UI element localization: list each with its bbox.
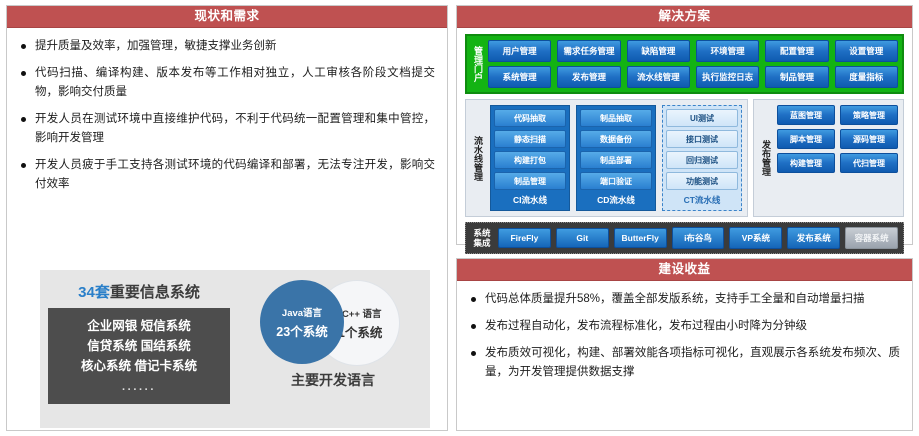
pipeline-column-cd: 制品抽取 数据备份 制品部署 端口验证 CD流水线 [576,105,656,211]
cd-item-port-verify[interactable]: 端口验证 [580,172,652,190]
systems-infographic: 34套重要信息系统 企业网银 短信系统 信贷系统 国结系统 核心系统 借记卡系统… [40,270,430,428]
systems-ellipsis: ······ [52,380,226,400]
integration-button-git[interactable]: Git [556,228,609,248]
release-management-label: 发布管理 [759,105,773,211]
integration-button-firefly[interactable]: FireFly [498,228,551,248]
portal-button-settings-management[interactable]: 设置管理 [835,40,898,62]
current-status-title: 现状和需求 [7,6,447,28]
venn-left-value: 23个系统 [276,321,327,340]
portal-button-release-management[interactable]: 发布管理 [557,66,620,88]
release-button-strategy-management[interactable]: 策略管理 [840,105,898,125]
list-item: 开发人员在测试环境中直接维护代码，不利于代码统一配置管理和集中管控，影响开发管理 [19,110,435,148]
benefit-bullet-list: 代码总体质量提升58%，覆盖全部发版系统，支持手工全量和自动增量扫描 发布过程自… [469,290,900,382]
pipeline-column-ct: UI测试 接口测试 回归测试 功能测试 CT流水线 [662,105,742,211]
ci-item-code-extract[interactable]: 代码抽取 [494,109,566,127]
portal-button-grid: 用户管理 需求任务管理 缺陷管理 环境管理 配置管理 设置管理 系统管理 发布管… [488,40,898,88]
portal-button-pipeline-management[interactable]: 流水线管理 [627,66,690,88]
release-button-grid: 蓝图管理 策略管理 脚本管理 源码管理 构建管理 代扫管理 [777,105,898,211]
release-button-blueprint-management[interactable]: 蓝图管理 [777,105,835,125]
portal-button-system-management[interactable]: 系统管理 [488,66,551,88]
integration-button-container-system[interactable]: 容器系统 [845,227,898,249]
integration-button-butterfly[interactable]: ButterFly [614,228,667,248]
ci-item-artifact-management[interactable]: 制品管理 [494,172,566,190]
portal-button-requirement-task-management[interactable]: 需求任务管理 [557,40,620,62]
systems-title-text: 重要信息系统 [110,284,200,301]
release-button-build-management[interactable]: 构建管理 [777,153,835,173]
portal-row-2: 系统管理 发布管理 流水线管理 执行监控日志 制品管理 度量指标 [488,66,898,88]
integration-button-release-system[interactable]: 发布系统 [787,227,840,249]
slide-root: 现状和需求 提升质量及效率，加强管理，敏捷支撑业务创新 代码扫描、编译构建、版本… [0,0,919,436]
systems-name-box: 企业网银 短信系统 信贷系统 国结系统 核心系统 借记卡系统 ······ [48,308,230,404]
pipeline-release-row: 流水线管理 代码抽取 静态扫描 构建打包 制品管理 CI流水线 制品抽取 数据备… [465,94,904,217]
release-management-block: 发布管理 蓝图管理 策略管理 脚本管理 源码管理 构建管理 代扫管理 [753,99,904,217]
venn-left-label: Java语言 [282,305,322,319]
pipeline-management-label: 流水线管理 [471,105,485,211]
pipeline-management-block: 流水线管理 代码抽取 静态扫描 构建打包 制品管理 CI流水线 制品抽取 数据备… [465,99,748,217]
ct-item-regression-test[interactable]: 回归测试 [666,151,738,169]
venn-circle-left: Java语言 23个系统 [260,280,344,364]
benefit-body: 代码总体质量提升58%，覆盖全部发版系统，支持手工全量和自动增量扫描 发布过程自… [457,281,912,396]
systems-count: 34套 [78,284,110,301]
current-status-bullet-list: 提升质量及效率，加强管理，敏捷支撑业务创新 代码扫描、编译构建、版本发布等工作相… [19,37,435,194]
systems-line-1: 企业网银 短信系统 [52,316,226,336]
portal-button-user-management[interactable]: 用户管理 [488,40,551,62]
list-item: 开发人员疲于手工支持各测试环境的代码编译和部署，无法专注开发，影响交付效率 [19,156,435,194]
management-portal-block: 管理门户 用户管理 需求任务管理 缺陷管理 环境管理 配置管理 设置管理 系统管… [465,34,904,94]
ci-item-build-package[interactable]: 构建打包 [494,151,566,169]
solution-diagram: 管理门户 用户管理 需求任务管理 缺陷管理 环境管理 配置管理 设置管理 系统管… [457,28,912,260]
release-row-1: 蓝图管理 策略管理 [777,105,898,125]
current-status-panel: 现状和需求 提升质量及效率，加强管理，敏捷支撑业务创新 代码扫描、编译构建、版本… [6,5,448,431]
systems-title: 34套重要信息系统 [48,281,230,302]
systems-list-block: 34套重要信息系统 企业网银 短信系统 信贷系统 国结系统 核心系统 借记卡系统… [40,270,236,428]
portal-button-configuration-management[interactable]: 配置管理 [765,40,828,62]
ct-item-functional-test[interactable]: 功能测试 [666,172,738,190]
cd-pipeline-name: CD流水线 [580,193,652,207]
solution-title: 解决方案 [457,6,912,28]
current-status-body: 提升质量及效率，加强管理，敏捷支撑业务创新 代码扫描、编译构建、版本发布等工作相… [7,28,447,208]
benefit-title: 建设收益 [457,259,912,281]
portal-button-environment-management[interactable]: 环境管理 [696,40,759,62]
cd-item-artifact-extract[interactable]: 制品抽取 [580,109,652,127]
list-item: 发布质效可视化，构建、部署效能各项指标可视化，直观展示各系统发布频次、质量，为开… [469,344,900,382]
portal-button-artifact-management[interactable]: 制品管理 [765,66,828,88]
ct-item-ui-test[interactable]: UI测试 [666,109,738,127]
release-button-scan-management[interactable]: 代扫管理 [840,153,898,173]
portal-button-execution-monitor-log[interactable]: 执行监控日志 [696,66,759,88]
systems-line-3: 核心系统 借记卡系统 [52,356,226,376]
portal-row-1: 用户管理 需求任务管理 缺陷管理 环境管理 配置管理 设置管理 [488,40,898,62]
release-button-script-management[interactable]: 脚本管理 [777,129,835,149]
pipeline-columns: 代码抽取 静态扫描 构建打包 制品管理 CI流水线 制品抽取 数据备份 制品部署… [490,105,742,211]
integration-button-cuckoo[interactable]: i布谷鸟 [672,227,725,249]
language-venn-block: C/C++ 语言 11个系统 Java语言 23个系统 主要开发语言 [236,270,430,428]
solution-panel: 解决方案 管理门户 用户管理 需求任务管理 缺陷管理 环境管理 配置管理 设置管… [456,5,913,245]
ct-pipeline-name: CT流水线 [666,193,738,207]
portal-button-defect-management[interactable]: 缺陷管理 [627,40,690,62]
system-integration-label: 系统集成 [471,228,493,248]
ci-item-static-scan[interactable]: 静态扫描 [494,130,566,148]
release-row-2: 脚本管理 源码管理 [777,129,898,149]
systems-line-2: 信贷系统 国结系统 [52,336,226,356]
benefit-panel: 建设收益 代码总体质量提升58%，覆盖全部发版系统，支持手工全量和自动增量扫描 … [456,258,913,431]
cd-item-artifact-deploy[interactable]: 制品部署 [580,151,652,169]
ci-pipeline-name: CI流水线 [494,193,566,207]
ct-item-interface-test[interactable]: 接口测试 [666,130,738,148]
venn-diagram: C/C++ 语言 11个系统 Java语言 23个系统 [236,270,430,374]
list-item: 代码总体质量提升58%，覆盖全部发版系统，支持手工全量和自动增量扫描 [469,290,900,309]
integration-button-vp-system[interactable]: VP系统 [729,227,782,249]
release-row-3: 构建管理 代扫管理 [777,153,898,173]
list-item: 提升质量及效率，加强管理，敏捷支撑业务创新 [19,37,435,56]
portal-button-metrics[interactable]: 度量指标 [835,66,898,88]
release-button-source-management[interactable]: 源码管理 [840,129,898,149]
cd-item-data-backup[interactable]: 数据备份 [580,130,652,148]
list-item: 代码扫描、编译构建、版本发布等工作相对独立，人工审核各阶段文档提交物，影响交付质… [19,64,435,102]
pipeline-column-ci: 代码抽取 静态扫描 构建打包 制品管理 CI流水线 [490,105,570,211]
management-portal-label: 管理门户 [471,40,485,88]
list-item: 发布过程自动化，发布流程标准化，发布过程由小时降为分钟级 [469,317,900,336]
system-integration-block: 系统集成 FireFly Git ButterFly i布谷鸟 VP系统 发布系… [465,222,904,254]
